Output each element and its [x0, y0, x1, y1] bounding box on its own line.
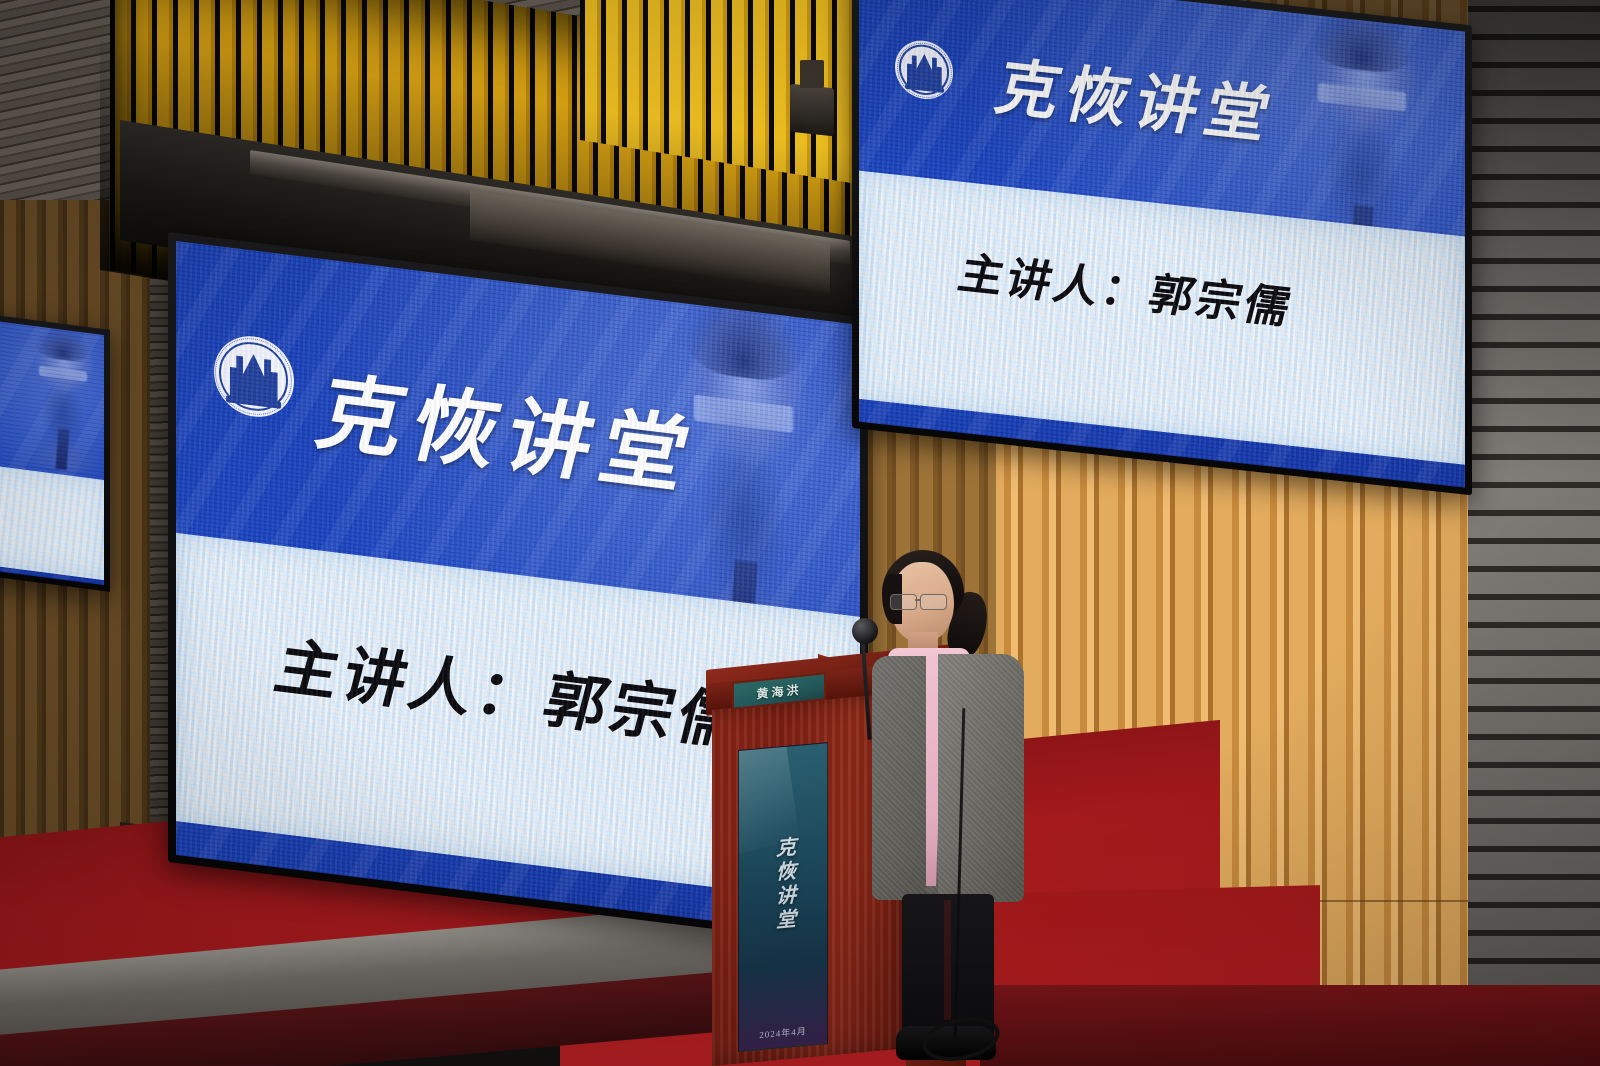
cardigan-right-panel	[938, 654, 1024, 902]
lectern-nameplate-text: 黄海洪	[756, 680, 801, 702]
presenter-glasses-icon	[890, 594, 952, 608]
university-emblem-icon	[214, 332, 294, 422]
secondary-led-screen: 克恢讲堂 主讲人：郭宗儒	[852, 0, 1472, 495]
lectern-panel-date: 2024年4月	[759, 1024, 807, 1041]
glasses-right-lens	[920, 594, 947, 610]
speaker-portrait-photo	[12, 318, 104, 476]
lecture-hall-photo: 讲堂 郭宗儒 克恢讲堂	[0, 0, 1600, 1066]
university-emblem-icon	[895, 38, 953, 102]
slide-title: 克恢讲堂	[992, 35, 1270, 155]
portrait-hair	[35, 324, 91, 363]
truss-motor-cap	[800, 60, 824, 88]
microphone-icon	[852, 618, 878, 644]
left-edge-led-screen: 讲堂 郭宗儒	[0, 300, 110, 592]
female-presenter-at-lectern	[866, 548, 1036, 1066]
floor-right	[980, 985, 1600, 1066]
portrait-glasses-icon	[39, 365, 87, 381]
slide-left-edge: 讲堂 郭宗儒	[0, 307, 104, 585]
portrait-tie	[55, 429, 69, 471]
slide-title: 克恢讲堂	[313, 344, 689, 511]
lectern-panel-title: 克恢讲堂	[773, 836, 794, 934]
presenter-leg-gap	[944, 900, 951, 1020]
truss-motor	[790, 84, 834, 137]
glasses-bridge	[915, 599, 921, 601]
portrait-glasses-icon	[1318, 82, 1405, 111]
slide-secondary: 克恢讲堂 主讲人：郭宗儒	[859, 0, 1465, 488]
glasses-left-lens	[890, 594, 917, 610]
lectern-front-graphic-panel: 克恢讲堂 2024年4月	[738, 742, 828, 1052]
acoustic-panel-shading	[1468, 0, 1600, 1066]
portrait-glasses-icon	[694, 394, 792, 433]
cardigan-left-panel	[872, 656, 926, 900]
